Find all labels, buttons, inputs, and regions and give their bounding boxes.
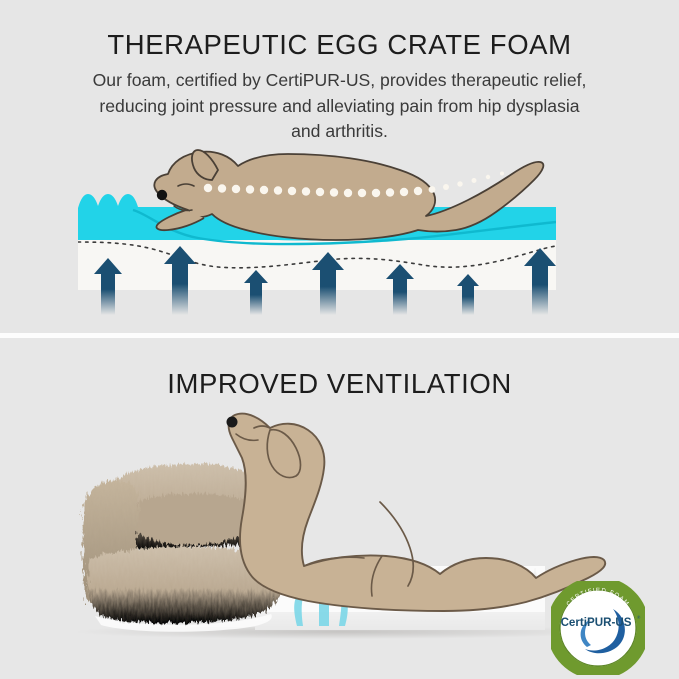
infographic-stage: THERAPEUTIC EGG CRATE FOAM Our foam, cer… <box>0 0 679 679</box>
sleeping-dog-illustration <box>100 148 580 260</box>
panel-one-headline: THERAPEUTIC EGG CRATE FOAM <box>0 29 679 61</box>
panel-therapeutic-foam: THERAPEUTIC EGG CRATE FOAM Our foam, cer… <box>0 0 679 335</box>
dog2-body-group <box>227 414 606 611</box>
certipur-us-badge: CERTIFIED FOAM www.certipur.us CertiPUR-… <box>551 581 645 675</box>
dog2-nose <box>227 417 238 428</box>
support-arrow-1 <box>94 258 122 315</box>
support-arrow-5 <box>386 264 414 315</box>
dog-nose <box>157 190 167 200</box>
support-arrow-6 <box>457 274 479 315</box>
badge-brand-text: CertiPUR-US <box>561 616 632 629</box>
support-arrow-3 <box>244 270 268 315</box>
body-line-2: reducing joint pressure and alleviating … <box>28 94 651 120</box>
body-line-3: and arthritis. <box>28 119 651 145</box>
body-line-1: Our foam, certified by CertiPUR-US, prov… <box>28 68 651 94</box>
panel-one-body-copy: Our foam, certified by CertiPUR-US, prov… <box>28 68 651 145</box>
support-arrow-4 <box>312 252 344 315</box>
